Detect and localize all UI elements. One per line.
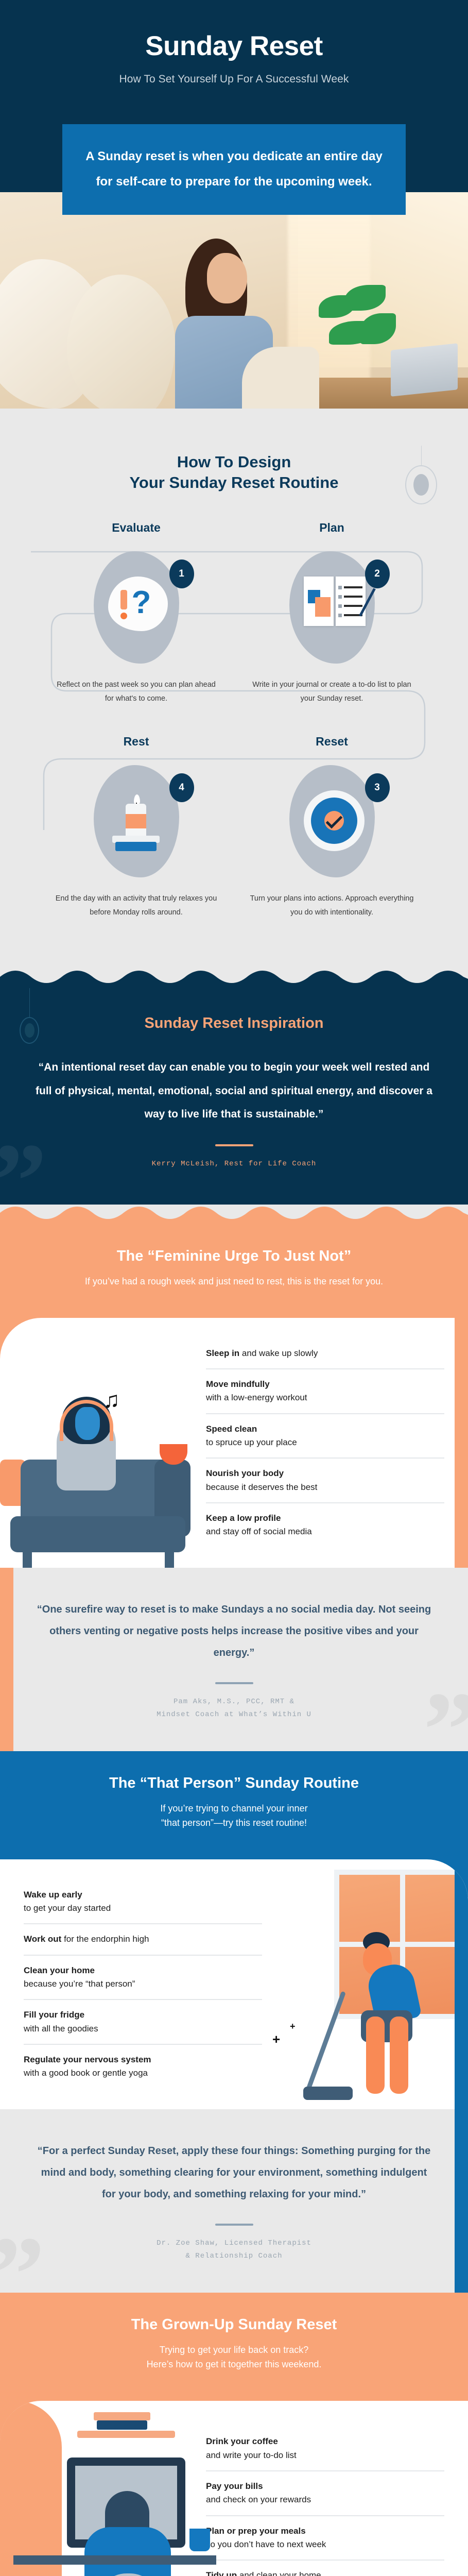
wave-divider-navy	[0, 969, 468, 988]
that-person-list: Wake up earlyto get your day started Wor…	[0, 1859, 262, 2109]
list-item-rest: and check on your rewards	[206, 2495, 311, 2504]
list-item: Pay your billsand check on your rewards	[206, 2470, 444, 2515]
wave-divider-orange	[0, 1205, 468, 1224]
sparkle-icon: +	[272, 2031, 280, 2047]
list-item: Nourish your bodybecause it deserves the…	[206, 1458, 444, 1502]
feminine-header: The “Feminine Urge To Just Not” If you’v…	[0, 1224, 468, 1318]
list-item: Wake up earlyto get your day started	[24, 1880, 262, 1924]
list-item-rest: with a good book or gentle yoga	[24, 2068, 148, 2078]
that-person-panel: Wake up earlyto get your day started Wor…	[0, 1859, 468, 2109]
list-item-rest: because you’re “that person”	[24, 1979, 135, 1989]
list-item-rest: to spruce up your place	[206, 1437, 297, 1447]
attribution-line-1: Dr. Zoe Shaw, Licensed Therapist	[36, 2237, 432, 2250]
that-person-header: The “That Person” Sunday Routine If you’…	[0, 1751, 468, 1859]
that-person-attribution: Dr. Zoe Shaw, Licensed Therapist & Relat…	[36, 2237, 432, 2263]
attribution-line-1: Pam Aks, M.S., PCC, RMT &	[36, 1696, 432, 1708]
that-person-quote: “For a perfect Sunday Reset, apply these…	[36, 2140, 432, 2205]
thought-bubble-icon: ?	[108, 577, 165, 638]
steps-grid: Evaluate ? 1 Reflect on the past week so…	[0, 521, 468, 924]
hero-photo	[0, 192, 468, 409]
that-person-section: The “That Person” Sunday Routine If you’…	[0, 1751, 468, 2293]
section-subtitle-grown-up: Trying to get your life back on track? H…	[21, 2343, 447, 2372]
step-card-rest: Rest 4 En	[54, 735, 219, 920]
inspiration-section: ” Sunday Reset Inspiration “An intention…	[0, 988, 468, 1205]
design-title-line2: Your Sunday Reset Routine	[130, 473, 339, 492]
list-item: Clean your homebecause you’re “that pers…	[24, 1955, 262, 1999]
attribution-line-2: Mindset Coach at What’s Within U	[36, 1708, 432, 1721]
attribution-line-2: & Relationship Coach	[36, 2250, 432, 2263]
list-item-rest: and write your to-do list	[206, 2450, 297, 2460]
list-item-rest: because it deserves the best	[206, 1482, 317, 1492]
list-item-bold: Pay your bills	[206, 2481, 263, 2491]
list-item-rest: so you don’t have to next week	[206, 2539, 326, 2549]
step-number-badge: 4	[169, 773, 194, 802]
list-item: Sleep in and wake up slowly	[206, 1338, 444, 1368]
list-item-rest: for the endorphin high	[61, 1934, 149, 1944]
list-item-bold: Work out	[24, 1934, 61, 1944]
list-item: Speed cleanto spruce up your place	[206, 1413, 444, 1458]
list-item-bold: Fill your fridge	[24, 2010, 84, 2020]
quote-mark-icon: ”	[0, 1127, 47, 1205]
list-item-rest: and clean your home	[237, 2570, 321, 2576]
list-item: Tidy up and clean your home	[206, 2560, 444, 2576]
page-subtitle: How To Set Yourself Up For A Successful …	[0, 73, 468, 86]
list-item: Plan or prep your mealsso you don’t have…	[206, 2515, 444, 2560]
inspiration-attribution: Kerry McLeish, Rest for Life Coach	[31, 1158, 437, 1171]
section-title-that-person: The “That Person” Sunday Routine	[21, 1774, 447, 1793]
page-title: Sunday Reset	[0, 32, 468, 61]
grown-up-header: The Grown-Up Sunday Reset Trying to get …	[0, 2293, 468, 2400]
quote-rule	[215, 1682, 253, 1684]
step-title: Rest	[54, 735, 219, 749]
list-item-bold: Move mindfully	[206, 1379, 270, 1389]
coffee-cup-icon	[189, 2529, 210, 2551]
open-journal-icon	[304, 577, 360, 638]
list-item-rest: and stay off of social media	[206, 1527, 312, 1536]
subtitle-line-1: Trying to get your life back on track?	[160, 2345, 308, 2355]
step-description: End the day with an activity that truly …	[54, 892, 219, 920]
list-item-rest: and wake up slowly	[239, 1348, 318, 1358]
step-description: Write in your journal or create a to-do …	[250, 678, 414, 706]
list-item-bold: Speed clean	[206, 1424, 257, 1434]
section-title-design: How To Design Your Sunday Reset Routine	[0, 452, 468, 494]
grown-up-list: Drink your coffeeand write your to-do li…	[206, 2401, 468, 2576]
list-item: Move mindfullywith a low-energy workout	[206, 1368, 444, 1413]
woman-vacuuming-illustration: + +	[262, 1859, 468, 2109]
subtitle-line-2: “that person”—try this reset routine!	[161, 1818, 307, 1828]
list-item-rest: with all the goodies	[24, 2024, 98, 2033]
list-item: Regulate your nervous systemwith a good …	[24, 2044, 262, 2089]
subtitle-line-1: If you’re trying to channel your inner	[160, 1803, 307, 1814]
steps-row-2: Rest 4 En	[0, 735, 468, 920]
person-at-desk-illustration	[0, 2401, 206, 2576]
section-title-feminine: The “Feminine Urge To Just Not”	[21, 1247, 447, 1266]
grown-up-panel: Drink your coffeeand write your to-do li…	[0, 2401, 468, 2576]
woman-on-couch-illustration: ♫	[0, 1318, 206, 1568]
step-number-badge: 2	[365, 560, 390, 588]
feminine-urge-section: The “Feminine Urge To Just Not” If you’v…	[0, 1224, 468, 1751]
feminine-quote-block: ” “One surefire way to reset is to make …	[0, 1568, 468, 1751]
steps-row-1: Evaluate ? 1 Reflect on the past week so…	[0, 521, 468, 706]
sparkle-icon: +	[290, 2021, 296, 2032]
list-item-bold: Tidy up	[206, 2570, 237, 2576]
definition-card: A Sunday reset is when you dedicate an e…	[62, 124, 406, 215]
quote-mark-icon: ”	[423, 1676, 468, 1751]
step-number-badge: 1	[169, 560, 194, 588]
list-item-bold: Plan or prep your meals	[206, 2526, 306, 2536]
list-item: Work out for the endorphin high	[24, 1923, 262, 1954]
step-number-badge: 3	[365, 773, 390, 802]
woman-with-coffee-illustration	[170, 239, 291, 409]
hero-section: Sunday Reset How To Set Yourself Up For …	[0, 0, 468, 192]
grown-up-section: The Grown-Up Sunday Reset Trying to get …	[0, 2293, 468, 2576]
infographic-page: Sunday Reset How To Set Yourself Up For …	[0, 0, 468, 2576]
list-item-bold: Drink your coffee	[206, 2436, 278, 2446]
music-notes-icon: ♫	[103, 1387, 120, 1413]
step-description: Reflect on the past week so you can plan…	[54, 678, 219, 706]
list-item-bold: Regulate your nervous system	[24, 2055, 151, 2064]
that-person-quote-block: ” “For a perfect Sunday Reset, apply the…	[0, 2109, 468, 2293]
list-item-bold: Nourish your body	[206, 1468, 284, 1478]
section-title-grown-up: The Grown-Up Sunday Reset	[21, 2315, 447, 2335]
section-title-inspiration: Sunday Reset Inspiration	[31, 1015, 437, 1032]
list-item-rest: with a low-energy workout	[206, 1393, 307, 1402]
quote-rule	[215, 1144, 253, 1146]
candle-and-books-icon	[108, 790, 165, 852]
list-item-bold: Keep a low profile	[206, 1513, 281, 1523]
list-item-bold: Wake up early	[24, 1890, 82, 1900]
quote-rule	[215, 2224, 253, 2226]
step-card-evaluate: Evaluate ? 1 Reflect on the past week so…	[54, 521, 219, 706]
list-item: Drink your coffeeand write your to-do li…	[206, 2427, 444, 2470]
step-card-plan: Plan	[250, 521, 414, 706]
target-check-icon	[304, 790, 360, 852]
step-description: Turn your plans into actions. Approach e…	[250, 892, 414, 920]
decorative-knob-icon	[20, 1017, 39, 1044]
step-title: Evaluate	[54, 521, 219, 535]
step-card-reset: Reset 3 Turn your plans into	[250, 735, 414, 920]
step-title: Reset	[250, 735, 414, 749]
subtitle-line-2: Here’s how to get it together this weeke…	[147, 2359, 322, 2369]
list-item-rest: to get your day started	[24, 1903, 111, 1913]
section-subtitle-feminine: If you’ve had a rough week and just need…	[21, 1275, 447, 1289]
design-title-line1: How To Design	[177, 453, 291, 471]
wave-divider-grey	[0, 409, 468, 428]
list-item-bold: Sleep in	[206, 1348, 239, 1358]
list-item: Keep a low profileand stay off of social…	[206, 1502, 444, 1547]
laptop-icon	[391, 343, 458, 397]
list-item-bold: Clean your home	[24, 1965, 95, 1975]
section-subtitle-that-person: If you’re trying to channel your inner “…	[21, 1802, 447, 1831]
design-routine-section: How To Design Your Sunday Reset Routine …	[0, 428, 468, 969]
feminine-panel: ♫ Sleep in and wake up slowly Move mindf…	[0, 1318, 468, 1568]
feminine-list: Sleep in and wake up slowly Move mindful…	[206, 1318, 468, 1568]
feminine-quote: “One surefire way to reset is to make Su…	[36, 1599, 432, 1664]
inspiration-quote: “An intentional reset day can enable you…	[31, 1056, 437, 1125]
quote-mark-icon: ”	[0, 2221, 45, 2293]
list-item: Fill your fridgewith all the goodies	[24, 1999, 262, 2044]
feminine-attribution: Pam Aks, M.S., PCC, RMT & Mindset Coach …	[36, 1696, 432, 1721]
step-title: Plan	[250, 521, 414, 535]
